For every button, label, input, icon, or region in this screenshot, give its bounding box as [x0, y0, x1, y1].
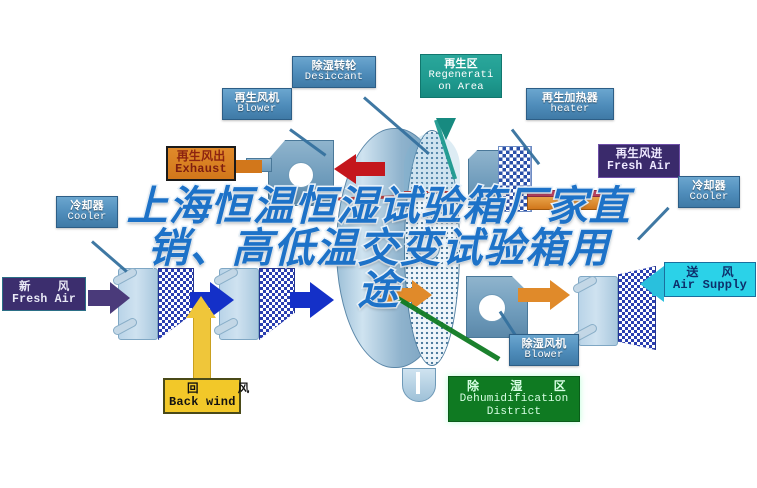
label-regeneration-area-en2: on Area — [425, 82, 497, 94]
label-desiccant-wheel[interactable]: 除湿转轮 Desiccant — [292, 56, 376, 88]
arrow-pre-cool-2 — [290, 292, 312, 308]
label-regen-exhaust-cn: 再生风出 — [171, 150, 231, 163]
label-fresh-air[interactable]: 新 风 Fresh Air — [2, 277, 86, 311]
label-fresh-air-cn: 新 风 — [7, 281, 81, 294]
label-cooler-right[interactable]: 冷却器 Cooler — [678, 176, 740, 208]
arrow-regen-exhaust-shaft — [232, 160, 262, 173]
schematic-canvas: 除湿转轮 Desiccant 再生风机 Blower 再生区 Regenerat… — [0, 0, 757, 488]
label-air-supply-en: Air Supply — [669, 279, 751, 292]
arrow-fresh-air-in — [88, 290, 112, 306]
leader-cooler-left — [91, 240, 128, 272]
label-regen-air-inlet[interactable]: 再生风进 Fresh Air — [598, 144, 680, 178]
arrow-regen-hot-head — [334, 154, 356, 184]
label-back-wind-cn: 回 风 — [169, 383, 235, 396]
regen-inlet-duct — [527, 196, 605, 210]
label-dehumidification-district-en1: Dehumidification — [453, 393, 575, 405]
label-dehumidification-district-cn: 除 湿 区 — [453, 380, 575, 393]
arrow-back-wind-head — [186, 296, 216, 318]
label-air-supply-cn: 送 风 — [669, 266, 751, 279]
label-regen-blower[interactable]: 再生风机 Blower — [222, 88, 292, 120]
label-cooler-left[interactable]: 冷却器 Cooler — [56, 196, 118, 228]
arrow-fresh-air-in-head — [110, 282, 130, 314]
arrow-pre-cool-2-head — [310, 282, 334, 318]
leader-cooler-right — [637, 207, 670, 241]
label-regen-exhaust[interactable]: 再生风出 Exhaust — [166, 146, 236, 181]
label-regeneration-area-tail — [436, 118, 456, 140]
desiccant-rotor-hub — [418, 236, 440, 260]
label-regen-air-inlet-en: Fresh Air — [603, 161, 675, 174]
label-dehum-blower[interactable]: 除湿风机 Blower — [509, 334, 579, 366]
regen-blower-inlet-eye — [288, 162, 314, 188]
arrow-air-supply-head — [640, 266, 664, 302]
label-cooler-right-en: Cooler — [683, 192, 735, 204]
label-back-wind-en: Back wind — [169, 396, 235, 409]
rotor-drip-scoop-slot — [416, 372, 420, 394]
label-regen-heater[interactable]: 再生加热器 heater — [526, 88, 614, 120]
label-desiccant-wheel-en: Desiccant — [297, 72, 371, 84]
label-regen-heater-en: heater — [531, 104, 609, 116]
label-regen-exhaust-en: Exhaust — [171, 163, 231, 176]
arrow-back-wind-shaft — [193, 315, 211, 379]
label-fresh-air-en: Fresh Air — [7, 294, 81, 307]
label-dehumidification-district-en2: District — [453, 406, 575, 418]
label-cooler-left-en: Cooler — [61, 212, 113, 224]
regen-inlet-duct-top — [527, 190, 605, 197]
label-dehumidification-district[interactable]: 除 湿 区 Dehumidification District — [448, 376, 580, 422]
label-regeneration-area[interactable]: 再生区 Regenerati on Area — [420, 54, 502, 98]
label-regen-air-inlet-cn: 再生风进 — [603, 148, 675, 161]
arrow-regen-hot-shaft — [355, 162, 385, 176]
label-dehum-blower-en: Blower — [514, 350, 574, 362]
label-regen-blower-en: Blower — [227, 104, 287, 116]
arrow-process-out-wheel — [518, 288, 552, 302]
label-back-wind[interactable]: 回 风 Back wind — [163, 378, 241, 414]
label-air-supply[interactable]: 送 风 Air Supply — [664, 262, 756, 297]
arrow-process-out-wheel-head — [550, 280, 570, 310]
